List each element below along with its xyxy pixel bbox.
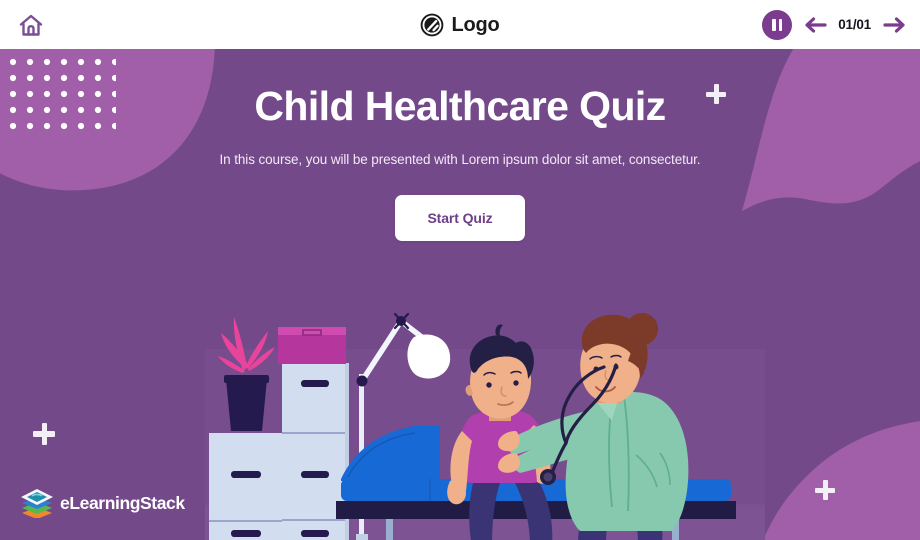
previous-button[interactable] <box>803 14 827 36</box>
brand-logo: eLearningStack <box>20 488 185 518</box>
circle-slash-logo-icon <box>420 13 444 37</box>
slide-canvas: Child Healthcare Quiz In this course, yo… <box>0 0 920 540</box>
logo-text: Logo <box>451 14 499 37</box>
pink-storage-box <box>278 327 346 364</box>
navigation-controls: 01/01 <box>762 8 906 41</box>
brand-name: eLearningStack <box>60 493 185 514</box>
page-subtitle: In this course, you will be presented wi… <box>0 152 920 167</box>
pause-bar-right <box>779 19 783 31</box>
page-title: Child Healthcare Quiz <box>0 84 920 129</box>
next-button[interactable] <box>882 14 906 36</box>
arrow-left-icon <box>804 16 827 34</box>
pause-bar-left <box>772 19 776 31</box>
layers-stack-icon <box>20 488 54 518</box>
top-navigation-bar: Logo 01/01 <box>0 0 920 49</box>
page-counter: 01/01 <box>838 17 871 32</box>
start-quiz-button[interactable]: Start Quiz <box>395 195 525 241</box>
hero-section: Child Healthcare Quiz In this course, yo… <box>0 49 920 241</box>
pause-button[interactable] <box>762 10 792 40</box>
arrow-right-icon <box>883 16 906 34</box>
